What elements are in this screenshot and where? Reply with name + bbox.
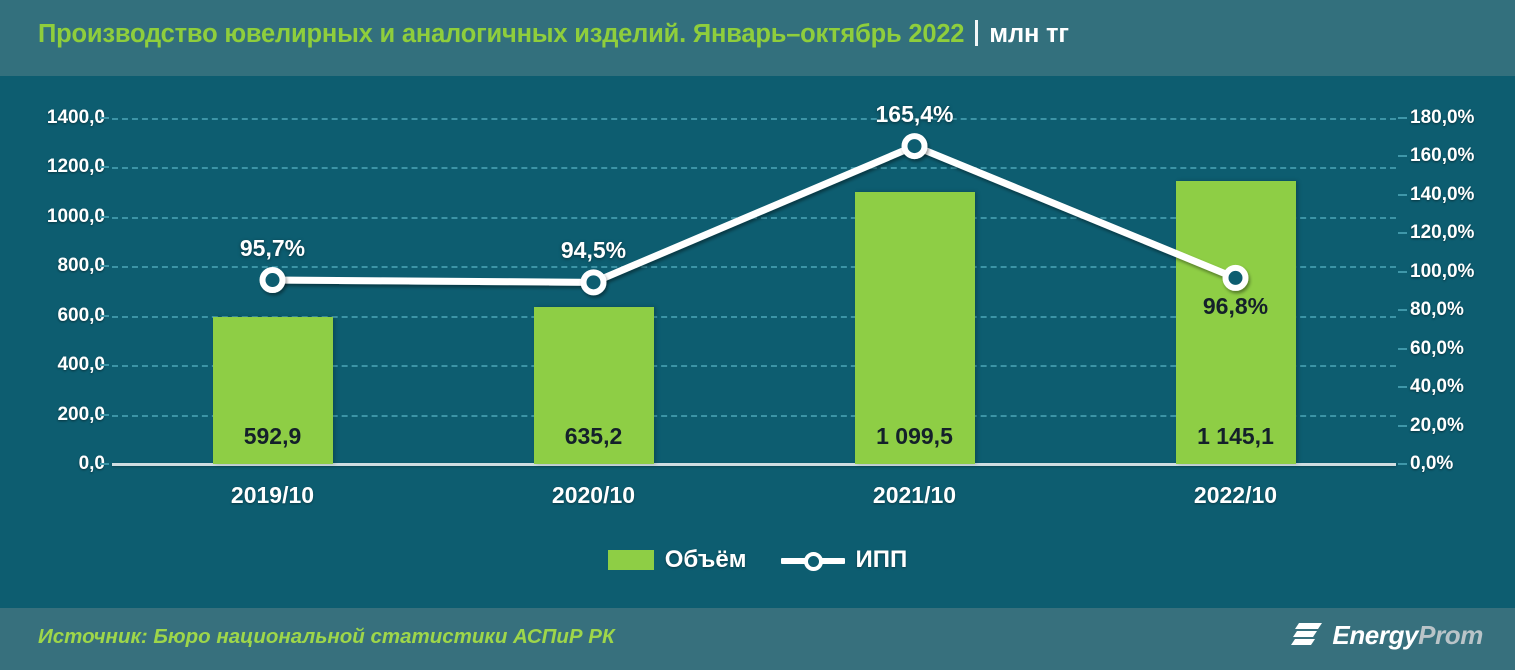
right-axis-tick: 160,0%: [1410, 145, 1474, 167]
right-axis-tick: 80,0%: [1410, 299, 1464, 321]
gridline: [112, 118, 1396, 120]
legend-label-volume: Объём: [665, 546, 747, 574]
chart-page: Производство ювелирных и аналогичных изд…: [0, 0, 1515, 670]
page-title-text: Производство ювелирных и аналогичных изд…: [38, 20, 964, 48]
left-axis-tickmark: [100, 265, 109, 267]
legend-item-ipp[interactable]: ИПП: [781, 546, 908, 574]
left-axis-tickmark: [100, 216, 109, 218]
bar-2022/10[interactable]: 1 145,1: [1176, 181, 1296, 464]
bar-value-label: 592,9: [213, 423, 333, 450]
header-band: Производство ювелирных и аналогичных изд…: [0, 0, 1515, 76]
chart-body: 592,9635,21 099,51 145,195,7%94,5%165,4%…: [0, 76, 1515, 608]
gridline: [112, 167, 1396, 169]
right-axis-tickmark: [1398, 194, 1407, 196]
left-axis-tickmark: [100, 414, 109, 416]
right-axis-tick: 180,0%: [1410, 107, 1474, 129]
right-axis-tickmark: [1398, 348, 1407, 350]
legend-label-ipp: ИПП: [856, 546, 908, 574]
left-axis-tickmark: [100, 117, 109, 119]
line-value-label: 94,5%: [561, 237, 626, 264]
source-note: Источник: Бюро национальной статистики А…: [38, 625, 615, 649]
footer-band: Источник: Бюро национальной статистики А…: [0, 608, 1515, 670]
right-axis-tick: 100,0%: [1410, 261, 1474, 283]
energyprom-logo-icon: [1291, 621, 1323, 651]
right-axis-tickmark: [1398, 232, 1407, 234]
energyprom-logo-text: EnergyProm: [1332, 620, 1483, 651]
right-axis-tickmark: [1398, 386, 1407, 388]
line-marker-2020/10[interactable]: [584, 272, 604, 292]
line-value-label: 165,4%: [875, 101, 953, 128]
left-axis-tickmark: [100, 463, 109, 465]
line-marker-2019/10[interactable]: [263, 270, 283, 290]
right-axis-tick: 20,0%: [1410, 415, 1464, 437]
left-axis-tick: 1400,0: [47, 107, 105, 129]
left-axis-tickmark: [100, 364, 109, 366]
left-axis-tick: 200,0: [57, 404, 105, 426]
right-axis-tick: 0,0%: [1410, 453, 1453, 475]
left-axis-tick: 400,0: [57, 354, 105, 376]
right-axis-tickmark: [1398, 271, 1407, 273]
right-axis-tickmark: [1398, 309, 1407, 311]
line-value-label: 95,7%: [240, 235, 305, 262]
left-axis-tickmark: [100, 166, 109, 168]
right-axis-tickmark: [1398, 463, 1407, 465]
right-axis-tick: 40,0%: [1410, 376, 1464, 398]
right-axis-tickmark: [1398, 117, 1407, 119]
bar-2019/10[interactable]: 592,9: [213, 317, 333, 464]
line-value-label: 96,8%: [1203, 293, 1268, 320]
right-axis-tick: 140,0%: [1410, 184, 1474, 206]
page-title: Производство ювелирных и аналогичных изд…: [38, 20, 1069, 49]
line-marker-2021/10[interactable]: [905, 136, 925, 156]
bar-value-label: 1 099,5: [855, 423, 975, 450]
left-axis-tick: 800,0: [57, 255, 105, 277]
legend-item-volume[interactable]: Объём: [608, 546, 747, 574]
bar-value-label: 1 145,1: [1176, 423, 1296, 450]
right-axis-tick: 60,0%: [1410, 338, 1464, 360]
bar-value-label: 635,2: [534, 423, 654, 450]
right-axis-tickmark: [1398, 155, 1407, 157]
left-axis-tick: 600,0: [57, 305, 105, 327]
legend: Объём ИПП: [0, 546, 1515, 574]
right-axis-tickmark: [1398, 425, 1407, 427]
left-axis-tick: 1000,0: [47, 206, 105, 228]
x-axis-label-2019/10: 2019/10: [231, 482, 314, 509]
right-axis-tick: 120,0%: [1410, 222, 1474, 244]
bar-2020/10[interactable]: 635,2: [534, 307, 654, 464]
plot-area: 592,9635,21 099,51 145,195,7%94,5%165,4%…: [112, 118, 1396, 464]
left-axis-tickmark: [100, 315, 109, 317]
energyprom-logo[interactable]: EnergyProm: [1291, 620, 1483, 651]
legend-line-ipp: [781, 550, 845, 570]
page-title-unit: млн тг: [989, 20, 1068, 48]
legend-swatch-volume: [608, 550, 654, 570]
logo-energy-text: Energy: [1332, 620, 1418, 650]
left-axis-tick: 1200,0: [47, 156, 105, 178]
x-axis-label-2020/10: 2020/10: [552, 482, 635, 509]
title-divider: [975, 20, 978, 46]
x-axis-label-2021/10: 2021/10: [873, 482, 956, 509]
logo-prom-text: Prom: [1418, 620, 1483, 650]
x-axis-label-2022/10: 2022/10: [1194, 482, 1277, 509]
bar-2021/10[interactable]: 1 099,5: [855, 192, 975, 464]
